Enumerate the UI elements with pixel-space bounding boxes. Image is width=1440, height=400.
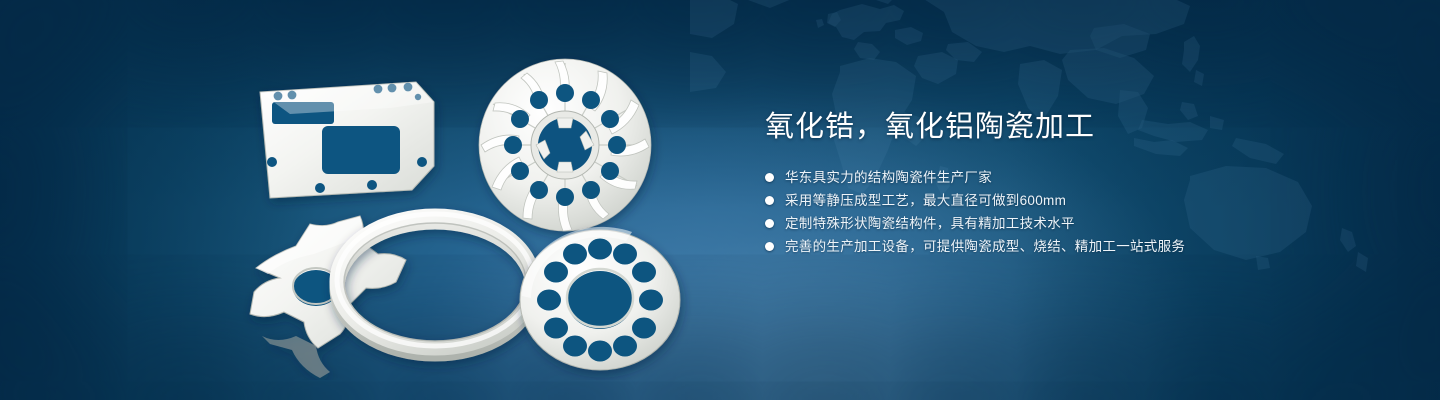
list-item: 定制特殊形状陶瓷结构件，具有精加工技术水平 [765, 216, 1325, 231]
list-item: 华东具实力的结构陶瓷件生产厂家 [765, 170, 1325, 185]
ceramic-impeller-disc [479, 59, 651, 231]
ceramic-perforated-disc [520, 227, 680, 370]
bullet-dot-icon [765, 219, 774, 228]
bullet-dot-icon [765, 196, 774, 205]
banner-copy: 氧化锆，氧化铝陶瓷加工 华东具实力的结构陶瓷件生产厂家 采用等静压成型工艺，最大… [765, 110, 1325, 254]
feature-text: 采用等静压成型工艺，最大直径可做到600mm [785, 193, 1066, 208]
bullet-dot-icon [765, 242, 774, 251]
ceramic-machined-plate [260, 82, 434, 198]
feature-list: 华东具实力的结构陶瓷件生产厂家 采用等静压成型工艺，最大直径可做到600mm 定… [765, 170, 1325, 254]
feature-text: 完善的生产加工设备，可提供陶瓷成型、烧结、精加工一站式服务 [785, 239, 1185, 254]
product-photo-collage [230, 40, 730, 380]
page-title: 氧化锆，氧化铝陶瓷加工 [765, 110, 1325, 144]
list-item: 采用等静压成型工艺，最大直径可做到600mm [765, 193, 1325, 208]
bullet-dot-icon [765, 173, 774, 182]
feature-text: 定制特殊形状陶瓷结构件，具有精加工技术水平 [785, 216, 1075, 231]
hero-banner: 氧化锆，氧化铝陶瓷加工 华东具实力的结构陶瓷件生产厂家 采用等静压成型工艺，最大… [0, 0, 1440, 400]
list-item: 完善的生产加工设备，可提供陶瓷成型、烧结、精加工一站式服务 [765, 239, 1325, 254]
feature-text: 华东具实力的结构陶瓷件生产厂家 [785, 170, 992, 185]
